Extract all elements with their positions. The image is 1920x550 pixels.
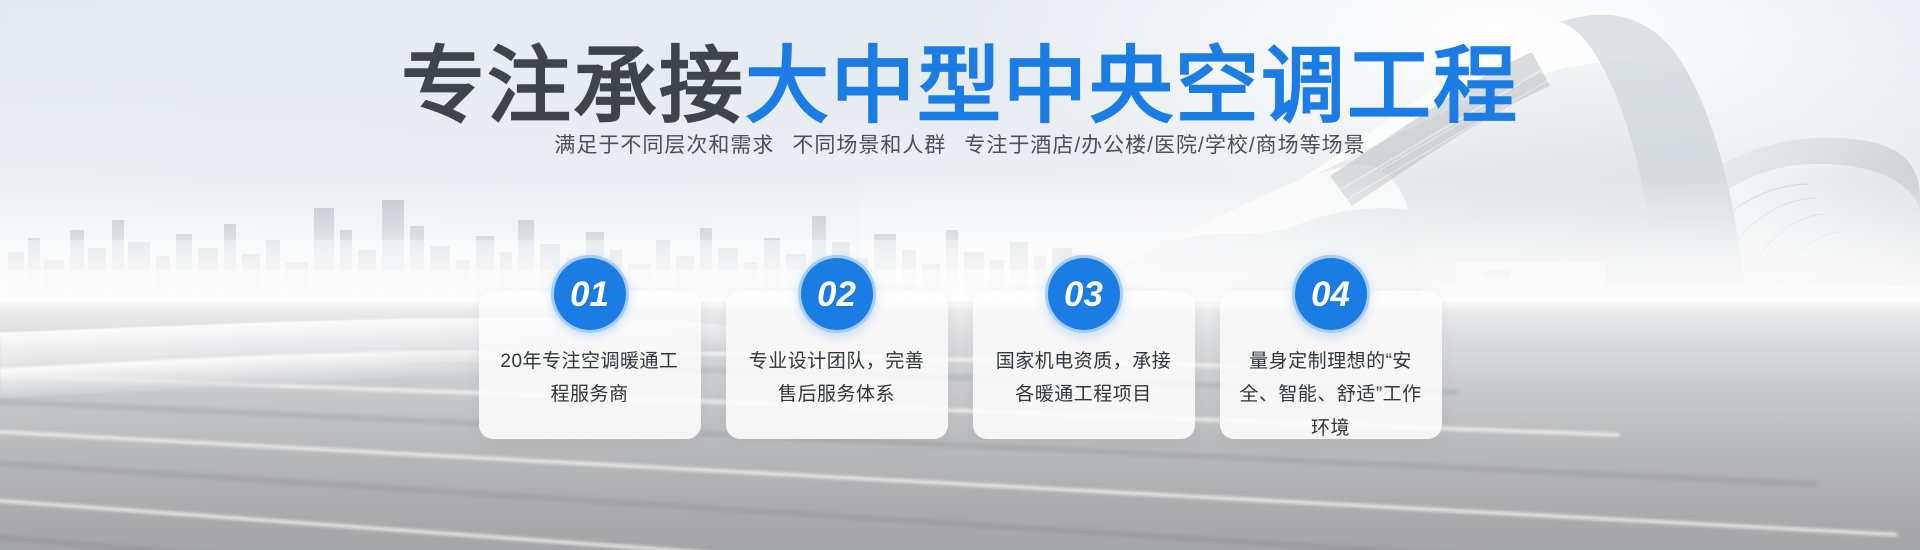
card-number-badge: 02 bbox=[798, 255, 876, 333]
feature-card[interactable]: 04 量身定制理想的“安全、智能、舒适”工作环境 bbox=[1220, 291, 1442, 439]
card-description: 量身定制理想的“安全、智能、舒适”工作环境 bbox=[1234, 345, 1428, 445]
feature-card[interactable]: 01 20年专注空调暖通工程服务商 bbox=[479, 291, 701, 439]
feature-card[interactable]: 03 国家机电资质，承接各暖通工程项目 bbox=[973, 291, 1195, 439]
headline-blue-segment: 大中型中央空调工程 bbox=[745, 39, 1519, 133]
headline-dark-segment: 专注承接 bbox=[401, 39, 745, 133]
page-subtitle: 满足于不同层次和需求不同场景和人群专注于酒店/办公楼/医院/学校/商场等场景 bbox=[0, 130, 1920, 162]
card-number-badge: 01 bbox=[551, 255, 629, 333]
card-number: 02 bbox=[817, 277, 856, 312]
subtitle-part-3: 专注于酒店/办公楼/医院/学校/商场等场景 bbox=[964, 134, 1365, 157]
feature-card-list: 01 20年专注空调暖通工程服务商 02 专业设计团队，完善售后服务体系 03 … bbox=[0, 255, 1920, 445]
card-number-badge: 03 bbox=[1045, 255, 1123, 333]
card-description: 专业设计团队，完善售后服务体系 bbox=[740, 345, 934, 412]
card-number: 01 bbox=[570, 277, 609, 312]
card-number-badge: 04 bbox=[1292, 255, 1370, 333]
card-description: 国家机电资质，承接各暖通工程项目 bbox=[987, 345, 1181, 412]
card-number: 04 bbox=[1311, 277, 1350, 312]
card-description: 20年专注空调暖通工程服务商 bbox=[493, 345, 687, 412]
subtitle-part-1: 满足于不同层次和需求 bbox=[554, 134, 774, 157]
feature-card[interactable]: 02 专业设计团队，完善售后服务体系 bbox=[726, 291, 948, 439]
card-number: 03 bbox=[1064, 277, 1103, 312]
subtitle-part-2: 不同场景和人群 bbox=[792, 134, 946, 157]
page-title: 专注承接大中型中央空调工程 bbox=[0, 44, 1920, 128]
hero-banner: 专注承接大中型中央空调工程 满足于不同层次和需求不同场景和人群专注于酒店/办公楼… bbox=[0, 0, 1920, 550]
